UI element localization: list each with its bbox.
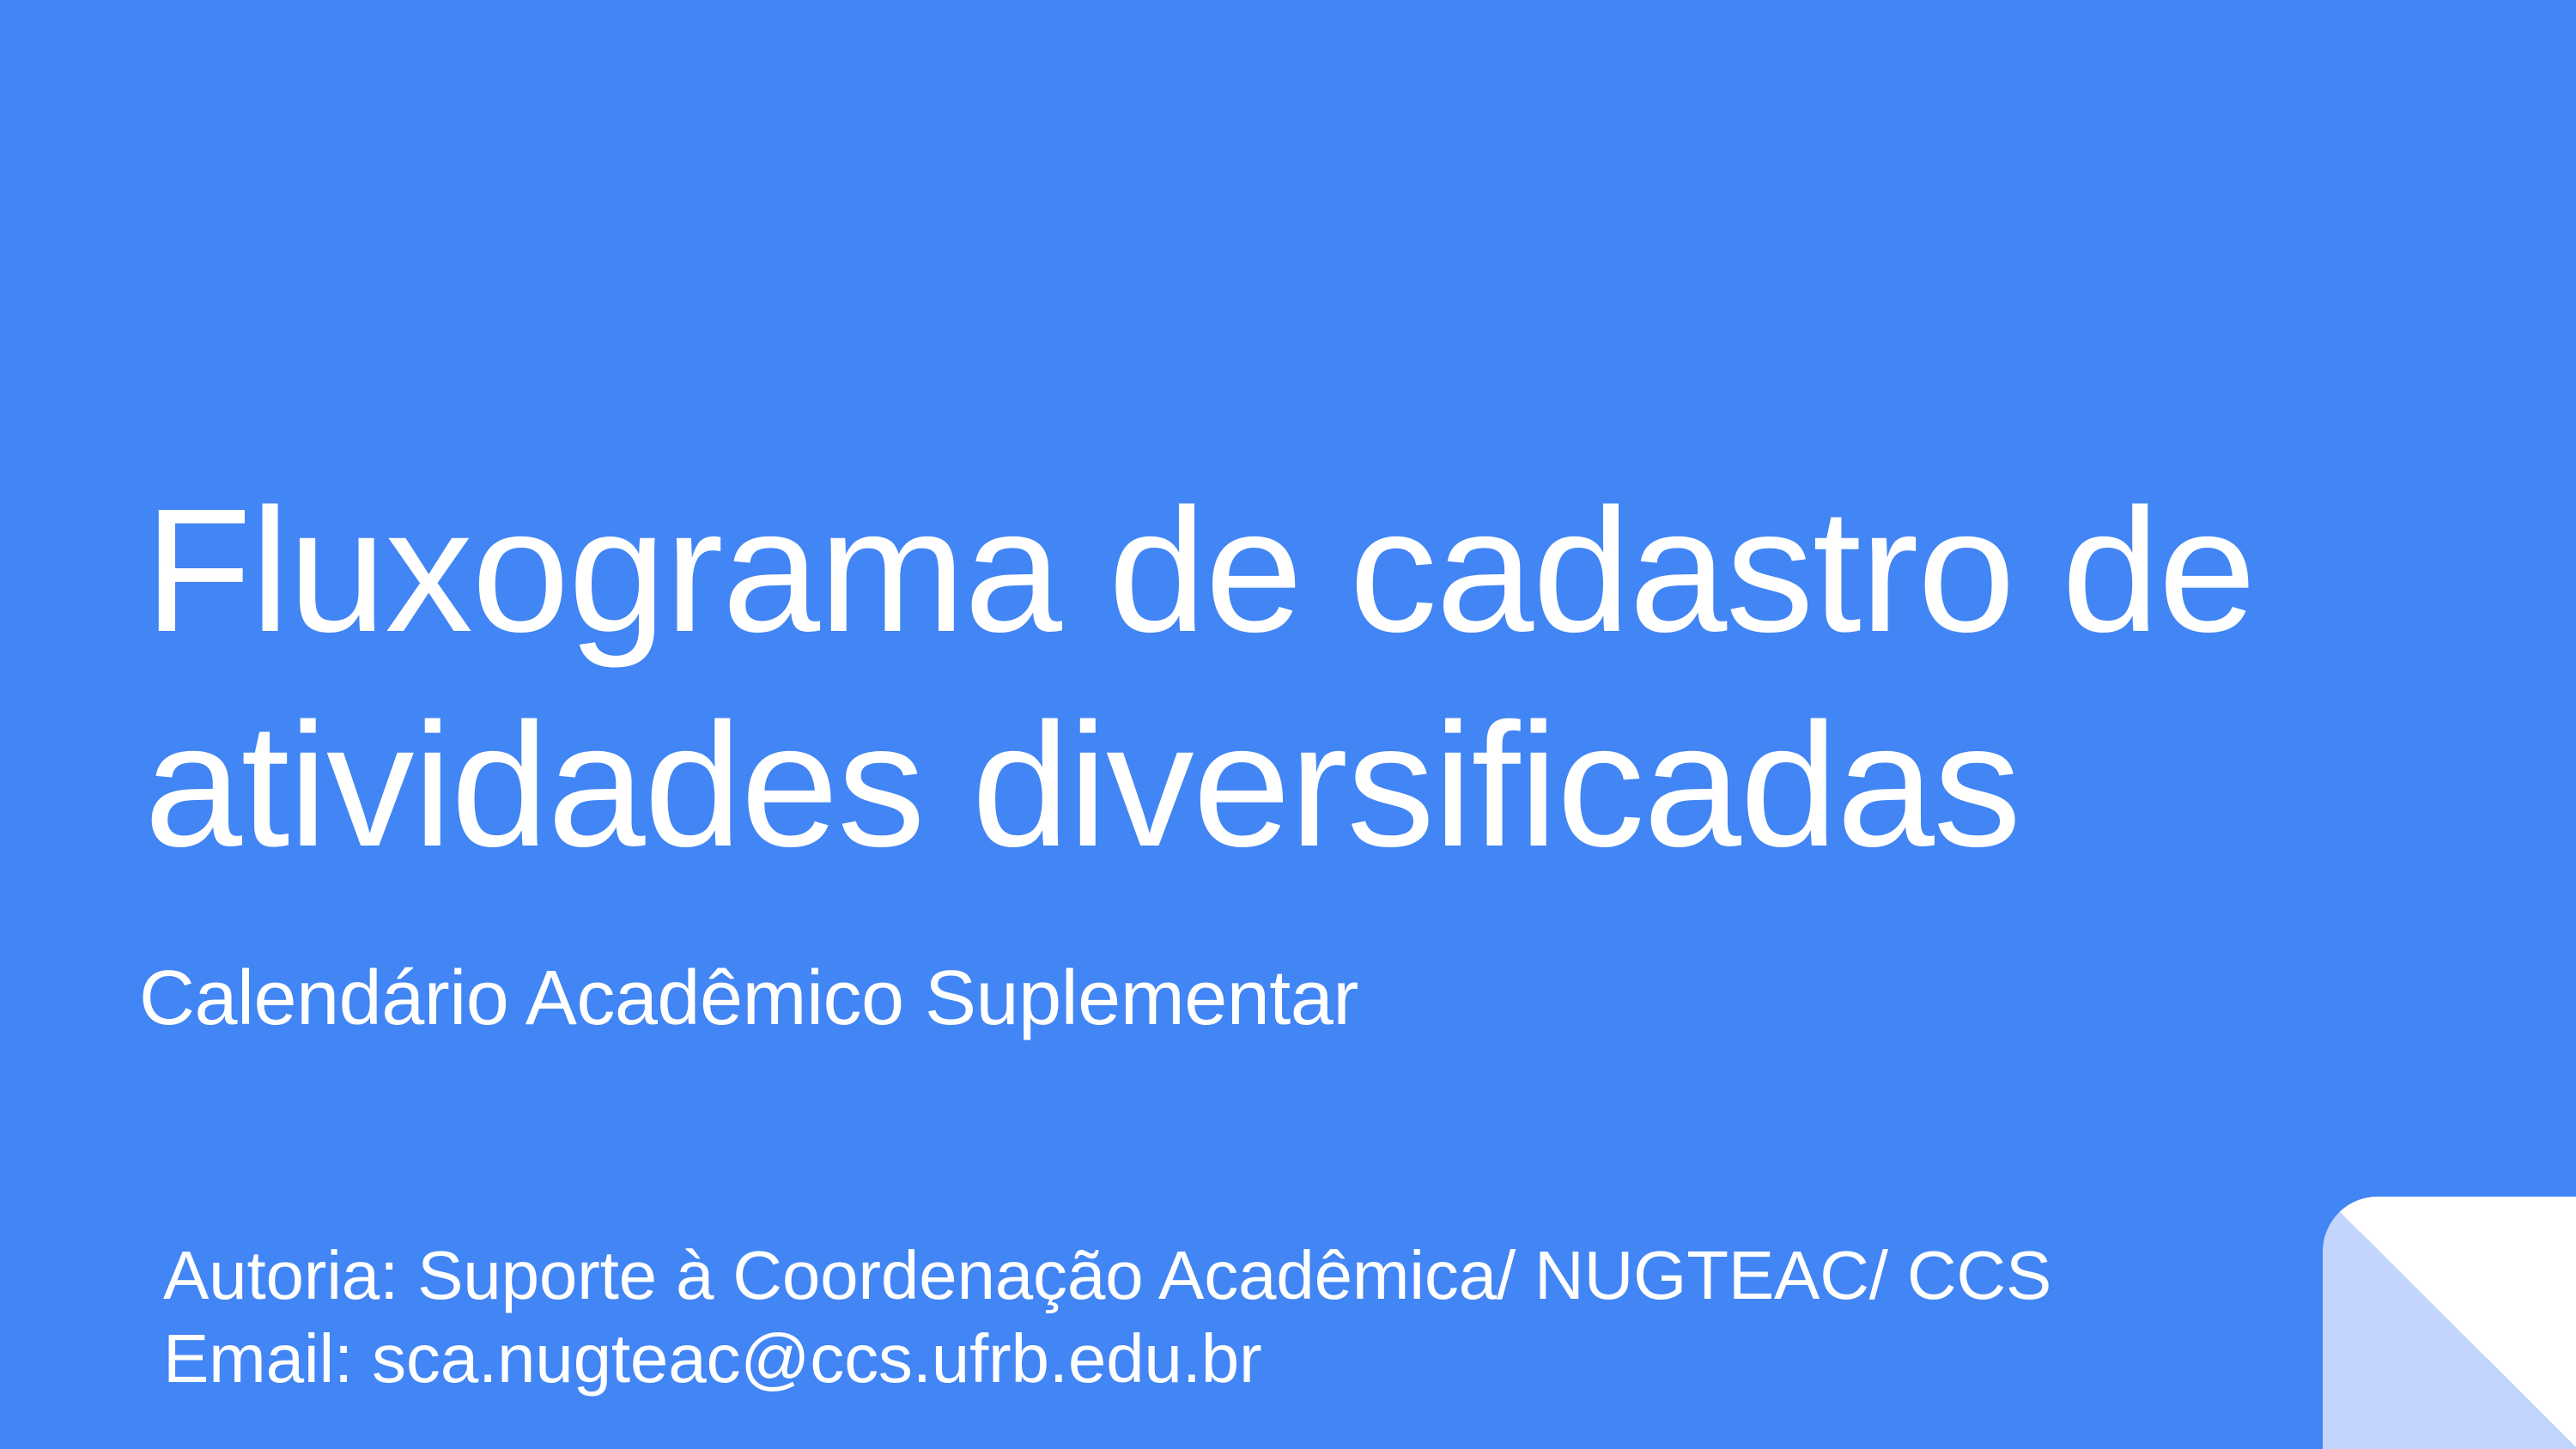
email-line: Email: sca.nugteac@ccs.ufrb.edu.br xyxy=(163,1317,2224,1400)
page-subtitle: Calendário Acadêmico Suplementar xyxy=(139,951,1358,1046)
page-title: Fluxograma de cadastro de atividades div… xyxy=(144,464,2308,893)
authorship-line: Autoria: Suporte à Coordenação Acadêmica… xyxy=(163,1234,2224,1317)
page-fold-corner-decoration xyxy=(2323,1197,2576,1449)
authorship-block: Autoria: Suporte à Coordenação Acadêmica… xyxy=(163,1234,2224,1400)
title-line-1: Fluxograma de cadastro de xyxy=(144,464,2308,678)
presentation-slide: Fluxograma de cadastro de atividades div… xyxy=(0,0,2576,1449)
page-fold-cut xyxy=(2323,1197,2576,1449)
title-line-2: atividades diversificadas xyxy=(144,678,2308,893)
